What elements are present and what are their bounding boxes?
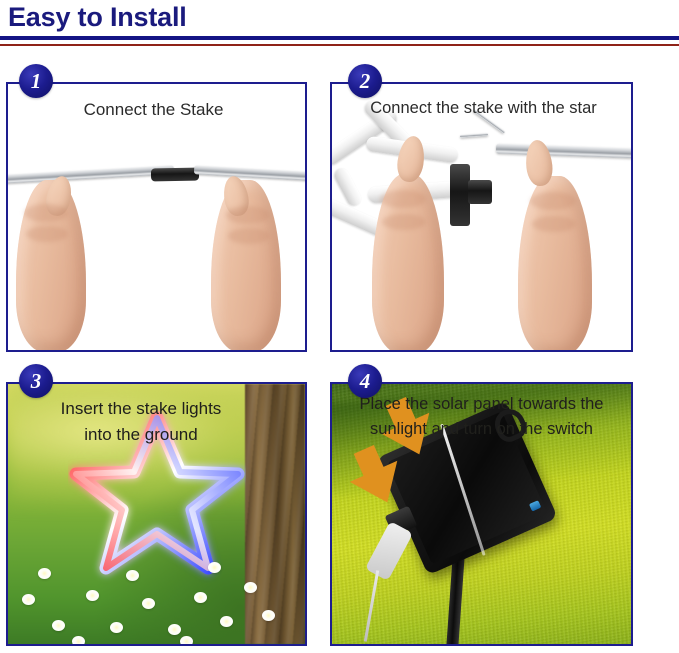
flower <box>220 616 233 627</box>
step-caption-3: Insert the stake lights into the ground <box>10 396 272 448</box>
stake-rod <box>496 143 633 158</box>
flower <box>194 592 207 603</box>
header-rule-red <box>0 44 679 46</box>
hand-right-knuckle <box>228 228 270 244</box>
rod-connector-sleeve <box>151 168 199 182</box>
step-caption-1: Connect the Stake <box>0 98 307 122</box>
step-panel-1 <box>6 82 307 352</box>
step-badge-3: 3 <box>19 364 53 398</box>
step-badge-4: 4 <box>348 364 382 398</box>
step-panel-2 <box>330 82 633 352</box>
flower <box>72 636 85 646</box>
antenna-wire <box>460 133 488 138</box>
flower <box>262 610 275 621</box>
star-connector-collar <box>450 164 470 226</box>
hand-left-knuckle <box>26 226 68 242</box>
step-badge-2: 2 <box>348 64 382 98</box>
flower <box>110 622 123 633</box>
flower <box>208 562 221 573</box>
hand-right-knuckle <box>226 206 270 224</box>
flower <box>180 636 193 646</box>
stake-rod-left <box>6 165 174 184</box>
flower <box>38 568 51 579</box>
star-connector-tip <box>468 180 492 204</box>
flower <box>52 620 65 631</box>
flower <box>22 594 35 605</box>
hand-right-knuckle <box>532 216 576 232</box>
step-caption-2: Connect the stake with the star <box>334 96 633 120</box>
hand-right-knuckle <box>530 192 576 210</box>
step-1-illustration <box>8 84 305 350</box>
header-rule-blue <box>0 36 679 40</box>
step-caption-4: Place the solar panel towards the sunlig… <box>332 392 631 442</box>
hand-left-knuckle <box>24 204 68 222</box>
step-2-illustration <box>332 84 631 350</box>
flower <box>86 590 99 601</box>
hand-left-knuckle <box>382 214 426 230</box>
flower <box>244 582 257 593</box>
page-title: Easy to Install <box>8 1 187 33</box>
flower <box>168 624 181 635</box>
step-badge-1: 1 <box>19 64 53 98</box>
flower <box>126 570 139 581</box>
flower <box>142 598 155 609</box>
hand-left-knuckle <box>380 190 426 208</box>
